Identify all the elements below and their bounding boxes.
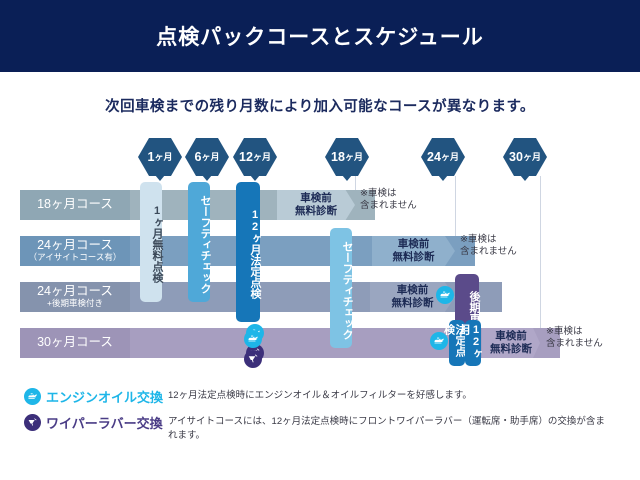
- inspection-excluded-note: ※車検は含まれません: [460, 234, 517, 259]
- wiper-rubber-icon: [244, 350, 262, 368]
- marker-unit: ヶ月: [154, 153, 172, 162]
- marker-pointer-icon: [520, 175, 530, 181]
- engine-oil-icon: [436, 286, 454, 304]
- note-line-2: 含まれません: [460, 246, 517, 258]
- inspection-excluded-note: ※車検は含まれません: [360, 188, 417, 213]
- timeline-guide-line: [540, 176, 541, 344]
- marker-unit: ヶ月: [441, 153, 459, 162]
- chevron-line-2: 無料診断: [295, 205, 337, 218]
- engine-oil-icon: [244, 330, 262, 348]
- course-label[interactable]: 30ヶ月コース: [20, 328, 130, 358]
- service-block[interactable]: セーフティチェック: [188, 182, 210, 302]
- marker-pointer-icon: [250, 175, 260, 181]
- note-line-1: ※車検は: [546, 326, 603, 338]
- marker-number: 30: [509, 151, 523, 164]
- course-name: 30ヶ月コース: [37, 336, 113, 350]
- marker-number: 1: [148, 151, 155, 164]
- legend-row: ワイパーラバー交換アイサイトコースには、12ヶ月法定点検時にフロントワイパーラバ…: [0, 414, 640, 444]
- timeline-month-marker[interactable]: 18ヶ月: [325, 138, 369, 176]
- pre-inspection-diagnosis-arrow: 車検前無料診断: [482, 328, 540, 358]
- service-block[interactable]: セーフティチェック: [330, 228, 352, 348]
- chevron-line-1: 車検前: [295, 192, 337, 205]
- marker-number: 24: [427, 151, 441, 164]
- service-block[interactable]: 12ヶ月法定点検: [236, 182, 260, 322]
- note-line-2: 含まれません: [360, 200, 417, 212]
- pre-inspection-diagnosis-arrow: 車検前無料診断: [372, 236, 455, 266]
- marker-pointer-icon: [202, 175, 212, 181]
- marker-number: 12: [239, 151, 253, 164]
- page-title: 点検パックコースとスケジュール: [156, 21, 483, 51]
- note-line-1: ※車検は: [360, 188, 417, 200]
- legend-item-name: ワイパーラバー交換: [46, 413, 163, 432]
- timeline-month-marker[interactable]: 24ヶ月: [421, 138, 465, 176]
- timeline-month-marker[interactable]: 12ヶ月: [233, 138, 277, 176]
- legend-item-name: エンジンオイル交換: [46, 387, 163, 406]
- course-label[interactable]: 24ヶ月コース（アイサイトコース有）: [20, 236, 130, 266]
- service-block[interactable]: 1ヶ月無料点検: [140, 182, 162, 302]
- marker-unit: ヶ月: [523, 153, 541, 162]
- course-name: 24ヶ月コース: [37, 285, 113, 299]
- timeline-month-marker[interactable]: 1ヶ月: [138, 138, 182, 176]
- marker-unit: ヶ月: [253, 153, 271, 162]
- course-name: 18ヶ月コース: [37, 198, 113, 212]
- chevron-line-1: 車検前: [393, 238, 435, 251]
- page-header: 点検パックコースとスケジュール: [0, 0, 640, 72]
- engine-oil-icon: [430, 332, 448, 350]
- marker-pointer-icon: [342, 175, 352, 181]
- chevron-line-1: 車検前: [490, 330, 532, 343]
- marker-unit: ヶ月: [345, 153, 363, 162]
- chevron-line-2: 無料診断: [392, 297, 434, 310]
- course-name: 24ヶ月コース: [37, 239, 113, 253]
- inspection-excluded-note: ※車検は含まれません: [546, 326, 603, 351]
- legend-item-description: アイサイトコースには、12ヶ月法定点検時にフロントワイパーラバー（運転席・助手席…: [168, 415, 608, 444]
- chevron-line-1: 車検前: [392, 284, 434, 297]
- marker-number: 6: [195, 151, 202, 164]
- marker-pointer-icon: [155, 175, 165, 181]
- engine-oil-icon: [24, 388, 41, 405]
- note-line-2: 含まれません: [546, 338, 603, 350]
- marker-pointer-icon: [438, 175, 448, 181]
- legend: エンジンオイル交換12ヶ月法定点検時にエンジンオイル＆オイルフィルターを好感しま…: [0, 388, 640, 444]
- timeline-month-marker[interactable]: 30ヶ月: [503, 138, 547, 176]
- chevron-line-2: 無料診断: [490, 343, 532, 356]
- course-sublabel: （アイサイトコース有）: [29, 253, 122, 262]
- service-block[interactable]: 12ヶ月: [465, 320, 481, 366]
- legend-row: エンジンオイル交換12ヶ月法定点検時にエンジンオイル＆オイルフィルターを好感しま…: [0, 388, 640, 414]
- note-line-1: ※車検は: [460, 234, 517, 246]
- chevron-line-2: 無料診断: [393, 251, 435, 264]
- page-subtitle: 次回車検までの残り月数により加入可能なコースが異なります。: [0, 95, 640, 116]
- course-label[interactable]: 24ヶ月コース+後期車検付き: [20, 282, 130, 312]
- marker-number: 18: [331, 151, 345, 164]
- marker-unit: ヶ月: [201, 153, 219, 162]
- course-label[interactable]: 18ヶ月コース: [20, 190, 130, 220]
- pre-inspection-diagnosis-arrow: 車検前無料診断: [277, 190, 355, 220]
- course-sublabel: +後期車検付き: [47, 299, 103, 308]
- wiper-rubber-icon: [24, 414, 41, 431]
- legend-item-description: 12ヶ月法定点検時にエンジンオイル＆オイルフィルターを好感します。: [168, 389, 608, 403]
- schedule-diagram: 18ヶ月コース24ヶ月コース（アイサイトコース有）24ヶ月コース+後期車検付き3…: [0, 130, 640, 380]
- timeline-month-marker[interactable]: 6ヶ月: [185, 138, 229, 176]
